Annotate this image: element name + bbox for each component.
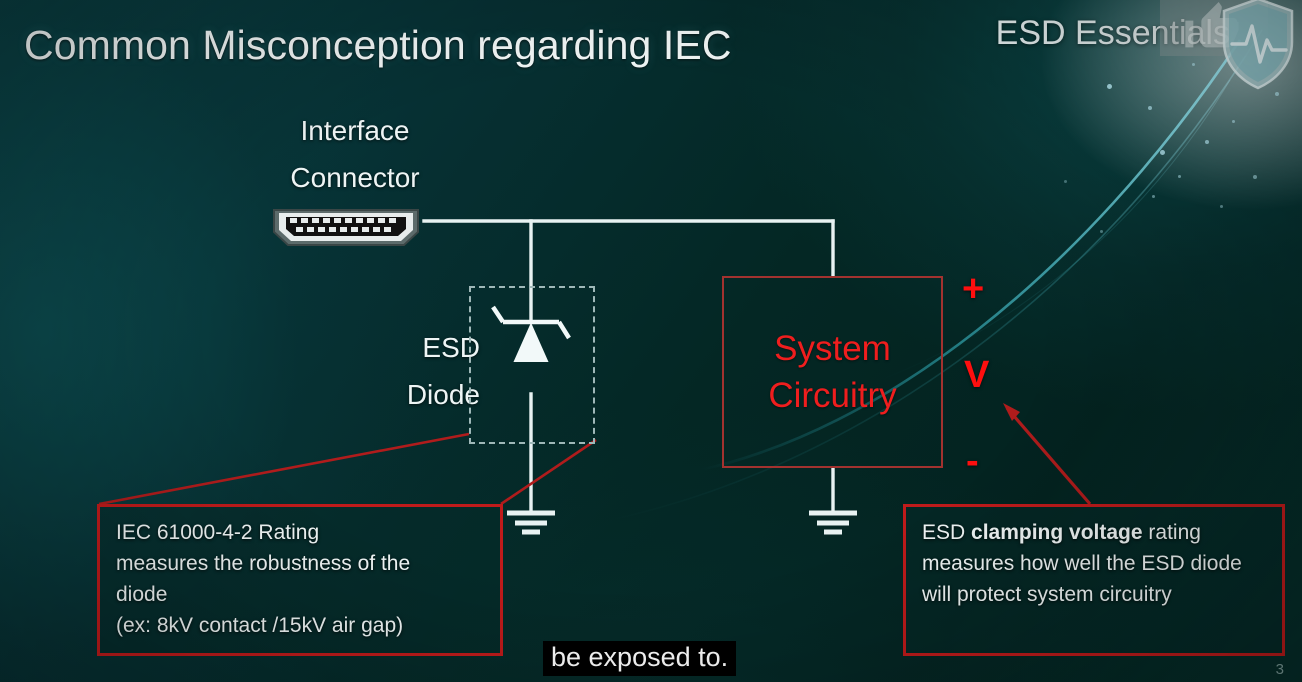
system-circuitry-box: System Circuitry	[722, 276, 943, 468]
interface-connector-line1: Interface	[301, 115, 410, 146]
callout-left: IEC 61000-4-2 Rating measures the robust…	[97, 504, 503, 656]
system-circuitry-line2: Circuitry	[768, 376, 896, 415]
callout-left-line-1: IEC 61000-4-2 Rating	[116, 517, 486, 548]
callout-left-line-2: measures the robustness of the	[116, 548, 486, 579]
interface-connector-label: Interface Connector	[245, 107, 465, 201]
slide-canvas: Common Misconception regarding IEC ESD E…	[0, 0, 1302, 682]
polarity-plus-label: +	[962, 268, 984, 311]
ground-icon	[809, 513, 857, 532]
slide-title: Common Misconception regarding IEC	[24, 22, 732, 69]
subtitle-caption: be exposed to.	[543, 641, 736, 676]
page-number: 3	[1276, 661, 1284, 678]
esd-diode-label: ESD Diode	[330, 324, 480, 418]
interface-connector-line2: Connector	[290, 162, 419, 193]
callout-left-line-4: (ex: 8kV contact /15kV air gap)	[116, 610, 486, 641]
ground-icon	[507, 513, 555, 532]
esd-diode-boundary	[469, 286, 595, 444]
callout-right-bold: clamping voltage	[971, 521, 1143, 544]
callout-right: ESD clamping voltage rating measures how…	[903, 504, 1285, 656]
polarity-minus-label: -	[966, 440, 979, 483]
system-circuitry-line1: System	[774, 329, 891, 368]
system-circuitry-label: System Circuitry	[768, 325, 896, 420]
callout-arrow-icon	[1003, 403, 1090, 504]
hdmi-connector-icon	[268, 206, 424, 249]
polarity-voltage-label: V	[964, 354, 989, 397]
shield-heartbeat-icon	[1220, 0, 1296, 92]
callout-right-prefix: ESD	[922, 521, 971, 544]
callout-left-line-3: diode	[116, 579, 486, 610]
